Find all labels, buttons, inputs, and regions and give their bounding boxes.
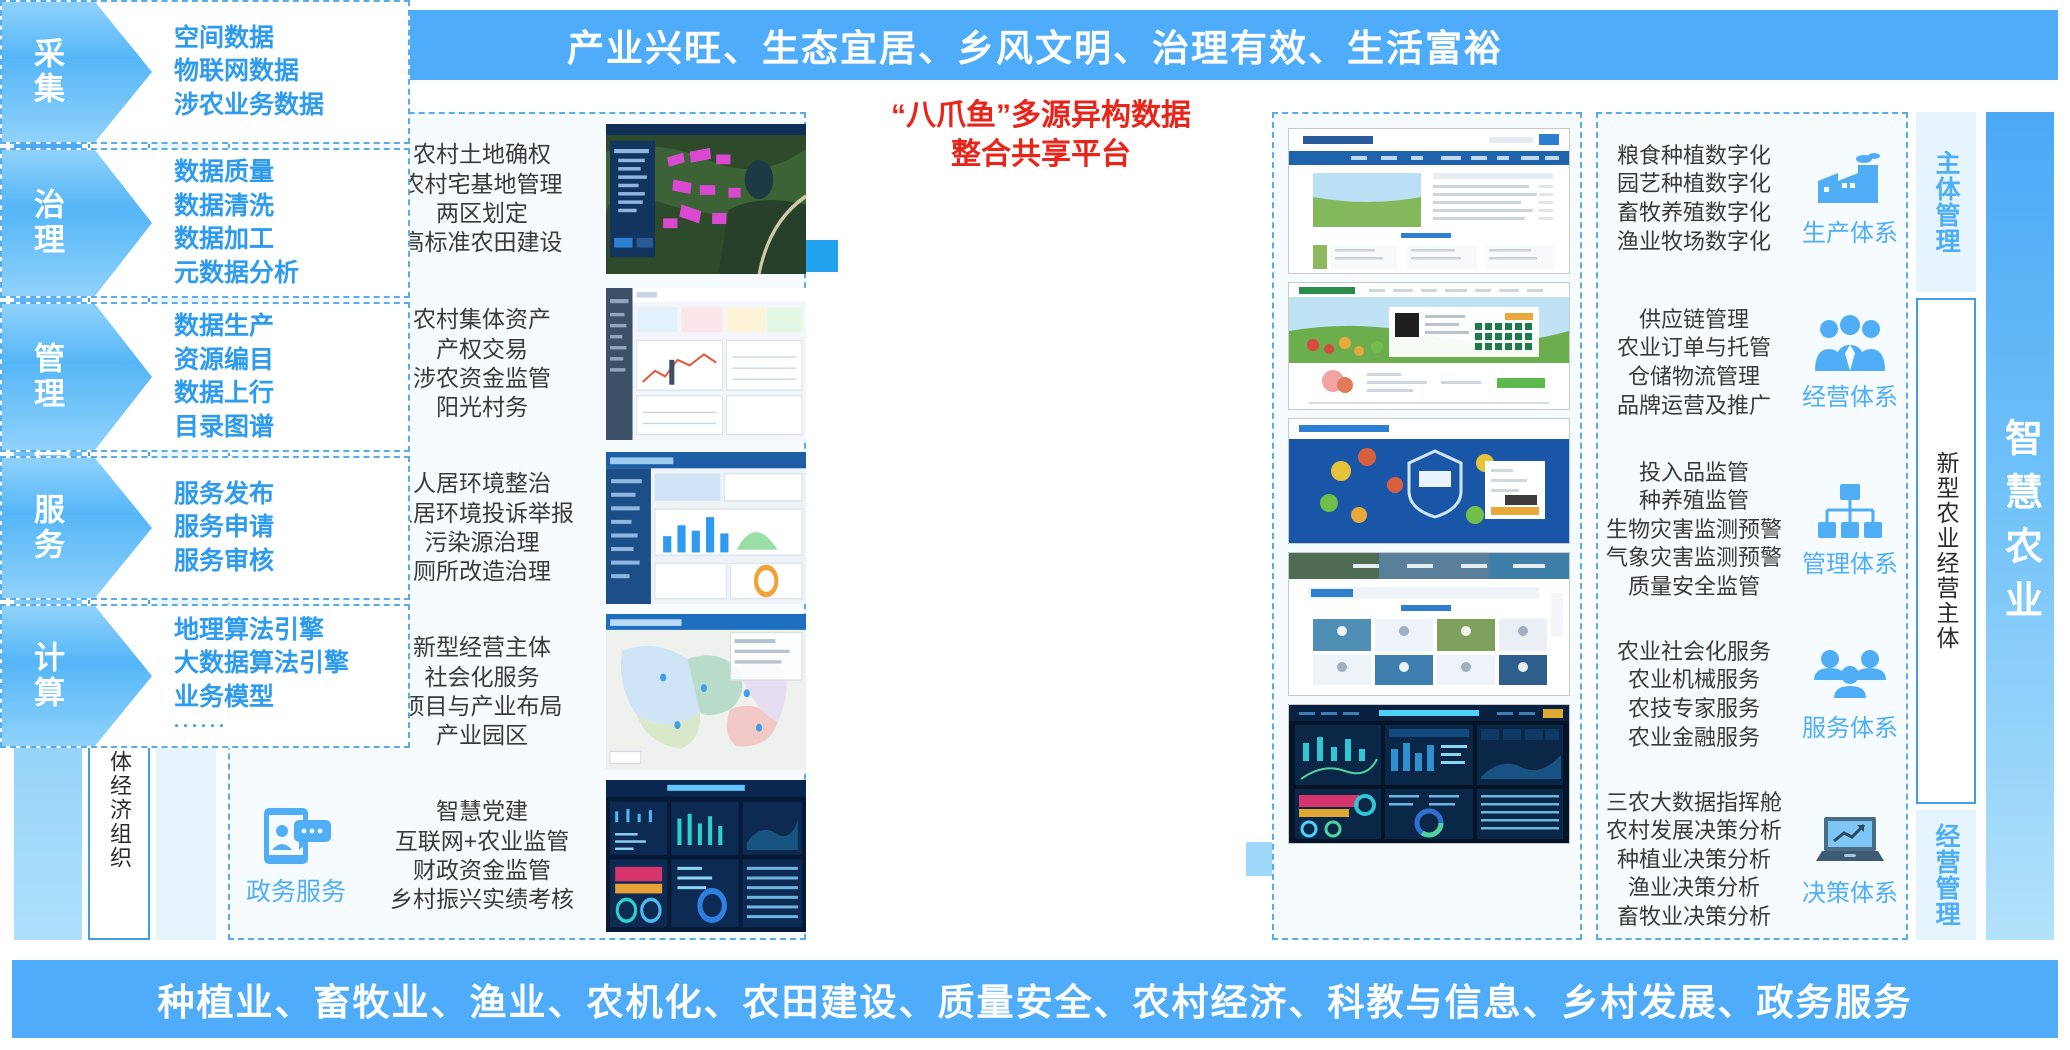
industry-map-screenshot[interactable] — [606, 614, 806, 770]
screenshots-column — [1272, 112, 1582, 940]
right-panel-label: 主体管理 — [1928, 150, 1964, 254]
stage-item: 数据加工 — [174, 223, 408, 257]
top-banner-text: 产业兴旺、生态宜居、乡风文明、治理有效、生活富裕 — [567, 18, 1503, 72]
people-group-icon — [1812, 315, 1888, 373]
stage-item: 数据上行 — [174, 377, 408, 411]
system-item-list: 农业社会化服务 农业机械服务 农技专家服务 农业金融服务 — [1596, 638, 1792, 752]
stage-item: 大数据算法引擎 — [174, 647, 408, 681]
stage-item-list: 数据质量 数据清洗 数据加工 元数据分析 — [152, 156, 408, 290]
system-item: 供应链管理 — [1596, 306, 1792, 335]
stage-service[interactable]: 服务 服务发布 服务申请 服务审核 — [0, 456, 410, 600]
stage-collect[interactable]: 采集 空间数据 物联网数据 涉农业务数据 — [0, 0, 410, 144]
system-icon-label: 服务体系 — [1802, 708, 1898, 743]
system-icon-label: 决策体系 — [1802, 873, 1898, 908]
stage-item: 资源编目 — [174, 344, 408, 378]
system-icon-group: 服务体系 — [1792, 648, 1908, 743]
service-portal-screenshot[interactable] — [1288, 552, 1570, 696]
module-row-government-service[interactable]: 政务服务 智慧党建 互联网+农业监管 财政资金监管 乡村振兴实绩考核 — [228, 780, 806, 932]
food-safety-platform-screenshot[interactable] — [1288, 418, 1570, 544]
stage-item-list: 空间数据 物联网数据 涉农业务数据 — [152, 22, 408, 123]
system-icon-group: 经营体系 — [1792, 315, 1908, 412]
right-rail-label: 智慧农业 — [1993, 418, 2048, 634]
module-icon-group: 政务服务 — [228, 804, 364, 908]
system-item: 农业订单与托管 — [1596, 334, 1792, 363]
system-item: 种养殖监管 — [1596, 487, 1792, 516]
stage-name: 服务 — [24, 493, 69, 563]
system-item: 渔业牧场数字化 — [1596, 228, 1792, 257]
infographic-root: 产业兴旺、生态宜居、乡风文明、治理有效、生活富裕 数字·乡村 村党支部 村委会 … — [0, 0, 2070, 1050]
connector-tab-right-light — [1246, 842, 1272, 876]
system-item: 渔业决策分析 — [1596, 874, 1792, 903]
party-building-screenshot[interactable] — [606, 780, 806, 932]
system-row-decision[interactable]: 三农大数据指挥舱 农村发展决策分析 种植业决策分析 渔业决策分析 畜牧业决策分析… — [1596, 782, 1908, 938]
stage-manage[interactable]: 管理 数据生产 资源编目 数据上行 目录图谱 — [0, 302, 410, 452]
system-row-service[interactable]: 农业社会化服务 农业机械服务 农技专家服务 农业金融服务 服务体系 — [1596, 620, 1908, 770]
stage-govern[interactable]: 治理 数据质量 数据清洗 数据加工 元数据分析 — [0, 148, 410, 298]
right-rail-smart-agriculture: 智慧农业 — [1986, 112, 2054, 940]
system-item: 生物灾害监测预警 — [1596, 516, 1792, 545]
stage-item: ······ — [174, 714, 408, 738]
right-panel-operation-management: 经营管理 — [1916, 810, 1976, 940]
system-icon-group: 管理体系 — [1792, 482, 1908, 579]
three-people-icon — [1812, 648, 1888, 704]
system-item: 质量安全监管 — [1596, 573, 1792, 602]
laptop-chart-icon — [1812, 813, 1888, 869]
right-panel-subject-management: 主体管理 — [1916, 112, 1976, 292]
connector-tab-left — [806, 240, 838, 272]
org-chart-icon — [1814, 482, 1886, 540]
system-item-list: 三农大数据指挥舱 农村发展决策分析 种植业决策分析 渔业决策分析 畜牧业决策分析 — [1596, 789, 1792, 932]
system-icon-label: 管理体系 — [1802, 544, 1898, 579]
stage-item: 服务申请 — [174, 511, 408, 545]
stage-name: 治理 — [24, 188, 69, 258]
module-icon-label: 政务服务 — [246, 872, 346, 908]
platform-title-line1: “八爪鱼”多源异构数据 — [836, 96, 1246, 135]
platform-title-line2: 整合共享平台 — [836, 135, 1246, 174]
asset-dashboard-screenshot[interactable] — [606, 288, 806, 440]
stage-compute[interactable]: 计算 地理算法引擎 大数据算法引擎 业务模型 ······ — [0, 604, 410, 748]
stage-chevron: 治理 — [2, 150, 152, 296]
stage-name: 采集 — [24, 37, 69, 107]
stage-item: 业务模型 — [174, 681, 408, 715]
system-item: 畜牧业决策分析 — [1596, 903, 1792, 932]
system-icon-group: 决策体系 — [1792, 813, 1908, 908]
system-row-production[interactable]: 粮食种植数字化 园艺种植数字化 畜牧养殖数字化 渔业牧场数字化 生产体系 — [1596, 124, 1908, 274]
stage-item: 元数据分析 — [174, 257, 408, 291]
stage-name: 管理 — [24, 342, 69, 412]
system-icon-group: 生产体系 — [1792, 151, 1908, 248]
system-item: 品牌运营及推广 — [1596, 392, 1792, 421]
module-item: 财政资金监管 — [364, 856, 600, 885]
stage-chevron: 计算 — [2, 606, 152, 746]
module-item: 互联网+农业监管 — [364, 827, 600, 856]
platform-stages-column: 采集 空间数据 物联网数据 涉农业务数据 治理 数据质量 数据清洗 数据加工 元… — [0, 0, 410, 748]
mobile-service-icon — [258, 804, 334, 868]
stage-chevron: 管理 — [2, 304, 152, 450]
stage-item-list: 服务发布 服务申请 服务审核 — [152, 478, 408, 579]
stage-item: 涉农业务数据 — [174, 89, 408, 123]
system-item: 气象灾害监测预警 — [1596, 544, 1792, 573]
system-item: 农技专家服务 — [1596, 695, 1792, 724]
stage-item: 服务发布 — [174, 478, 408, 512]
bigdata-cockpit-screenshot[interactable] — [1288, 704, 1570, 844]
system-item: 种植业决策分析 — [1596, 846, 1792, 875]
governance-dashboard-screenshot[interactable] — [606, 452, 806, 604]
system-item-list: 投入品监管 种养殖监管 生物灾害监测预警 气象灾害监测预警 质量安全监管 — [1596, 459, 1792, 602]
bottom-banner: 种植业、畜牧业、渔业、农机化、农田建设、质量安全、农村经济、科教与信息、乡村发展… — [12, 960, 2058, 1038]
factory-icon — [1814, 151, 1886, 209]
module-item-list: 智慧党建 互联网+农业监管 财政资金监管 乡村振兴实绩考核 — [364, 797, 606, 915]
stage-item: 目录图谱 — [174, 411, 408, 445]
module-item: 智慧党建 — [364, 797, 600, 826]
right-panel-label: 经营管理 — [1928, 823, 1964, 927]
system-item: 仓储物流管理 — [1596, 363, 1792, 392]
system-row-operation[interactable]: 供应链管理 农业订单与托管 仓储物流管理 品牌运营及推广 经营体系 — [1596, 288, 1908, 438]
system-item: 粮食种植数字化 — [1596, 142, 1792, 171]
stage-item: 地理算法引擎 — [174, 614, 408, 648]
system-item: 三农大数据指挥舱 — [1596, 789, 1792, 818]
system-row-management[interactable]: 投入品监管 种养殖监管 生物灾害监测预警 气象灾害监测预警 质量安全监管 — [1596, 452, 1908, 608]
platform-title: “八爪鱼”多源异构数据 整合共享平台 — [836, 96, 1246, 174]
system-icon-label: 生产体系 — [1802, 213, 1898, 248]
satellite-map-screenshot[interactable] — [606, 124, 806, 274]
stage-name: 计算 — [24, 641, 69, 711]
system-item: 农业金融服务 — [1596, 724, 1792, 753]
agri-portal-screenshot[interactable] — [1288, 128, 1570, 274]
subject-box-new-agri-operator[interactable]: 新型农业经营主体 — [1916, 298, 1976, 804]
system-item-list: 供应链管理 农业订单与托管 仓储物流管理 品牌运营及推广 — [1596, 306, 1792, 420]
subject-box-label: 新型农业经营主体 — [1929, 451, 1963, 651]
stage-chevron: 采集 — [2, 2, 152, 142]
system-item: 畜牧养殖数字化 — [1596, 199, 1792, 228]
stage-item-list: 地理算法引擎 大数据算法引擎 业务模型 ······ — [152, 614, 408, 739]
system-item-list: 粮食种植数字化 园艺种植数字化 畜牧养殖数字化 渔业牧场数字化 — [1596, 142, 1792, 256]
system-item: 投入品监管 — [1596, 459, 1792, 488]
stage-item: 数据清洗 — [174, 190, 408, 224]
stage-chevron: 服务 — [2, 458, 152, 598]
system-icon-label: 经营体系 — [1802, 377, 1898, 412]
bottom-banner-text: 种植业、畜牧业、渔业、农机化、农田建设、质量安全、农村经济、科教与信息、乡村发展… — [158, 972, 1913, 1026]
stage-item: 服务审核 — [174, 545, 408, 579]
module-item: 乡村振兴实绩考核 — [364, 885, 600, 914]
system-item: 园艺种植数字化 — [1596, 170, 1792, 199]
stage-item: 物联网数据 — [174, 55, 408, 89]
system-item: 农业社会化服务 — [1596, 638, 1792, 667]
stage-item-list: 数据生产 资源编目 数据上行 目录图谱 — [152, 310, 408, 444]
stage-item: 数据生产 — [174, 310, 408, 344]
system-item: 农村发展决策分析 — [1596, 817, 1792, 846]
traceability-platform-screenshot[interactable] — [1288, 282, 1570, 410]
stage-item: 数据质量 — [174, 156, 408, 190]
system-item: 农业机械服务 — [1596, 666, 1792, 695]
stage-item: 空间数据 — [174, 22, 408, 56]
